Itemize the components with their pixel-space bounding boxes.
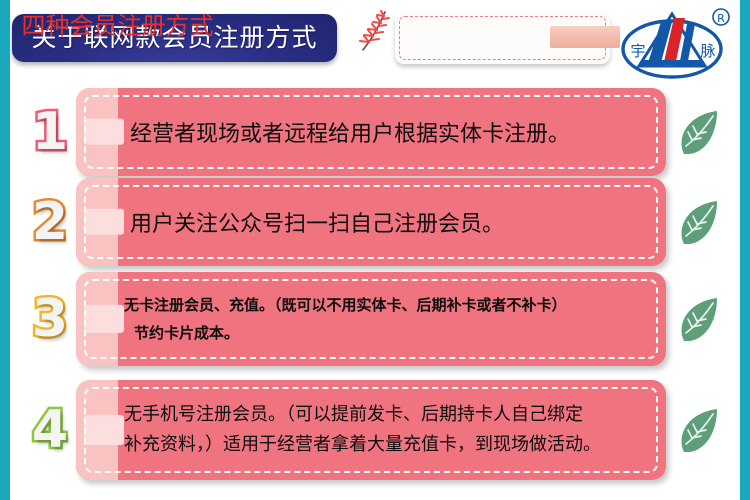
card-tab <box>76 178 118 266</box>
step-card-2: 用户关注公众号扫一扫自己注册会员。 <box>76 178 666 266</box>
step-badge-2: 2 <box>22 190 78 254</box>
step-badge-3: 3 <box>22 287 78 351</box>
step-card-1: 经营者现场或者远程给用户根据实体卡注册。 <box>76 88 666 176</box>
header-tag-label: 四种会员注册方式 <box>10 0 225 52</box>
step-number: 4 <box>22 398 78 462</box>
step-card-4: 无手机号注册会员。（可以提前发卡、后期持卡人自己绑定 补充资料，）适用于经营者拿… <box>76 380 666 480</box>
card-tab <box>76 88 118 176</box>
step-text-line: 无手机号注册会员。（可以提前发卡、后期持卡人自己绑定 <box>124 400 650 430</box>
step-text-line: 无卡注册会员、充值。（既可以不用实体卡、后期补卡或者不补卡） <box>124 291 650 319</box>
logo-left-char: 宇 <box>630 42 645 60</box>
list-item: 2 用户关注公众号扫一扫自己注册会员。 <box>10 178 740 266</box>
step-text-line: 节约卡片成本。 <box>124 319 650 347</box>
header: 关于联网款会员注册方式 <box>10 0 740 84</box>
step-card-3: 无卡注册会员、充值。（既可以不用实体卡、后期补卡或者不补卡） 节约卡片成本。 <box>76 272 666 366</box>
list-item: 4 无手机号注册会员。（可以提前发卡、后期持卡人自己绑定 补充资料，）适用于经营… <box>10 380 740 480</box>
step-text-4: 无手机号注册会员。（可以提前发卡、后期持卡人自己绑定 补充资料，）适用于经营者拿… <box>124 380 650 480</box>
poster-root: 关于联网款会员注册方式 <box>0 0 750 500</box>
logo-right-char: 脉 <box>700 42 715 60</box>
brush-stroke-icon <box>550 26 620 48</box>
list-item: 1 经营者现场或者远程给用户根据实体卡注册。 <box>10 88 740 176</box>
twig-branch-icon <box>357 6 397 54</box>
card-tab <box>76 380 118 480</box>
step-number: 3 <box>22 287 78 351</box>
leaf-icon <box>675 404 721 456</box>
step-text-line: 用户关注公众号扫一扫自己注册会员。 <box>130 206 650 238</box>
step-number: 2 <box>22 190 78 254</box>
list-item: 3 无卡注册会员、充值。（既可以不用实体卡、后期补卡或者不补卡） 节约卡片成本。 <box>10 272 740 366</box>
step-text-1: 经营者现场或者远程给用户根据实体卡注册。 <box>130 88 650 176</box>
poster-canvas: 关于联网款会员注册方式 <box>10 0 740 500</box>
trademark-symbol: R <box>717 12 725 25</box>
step-badge-4: 4 <box>22 398 78 462</box>
step-badge-1: 1 <box>22 100 78 164</box>
step-text-line: 经营者现场或者远程给用户根据实体卡注册。 <box>130 116 650 148</box>
leaf-icon <box>675 293 721 345</box>
leaf-icon <box>675 106 721 158</box>
yumai-logo-icon: 宇 脉 R <box>617 4 735 82</box>
step-text-line: 补充资料，）适用于经营者拿着大量充值卡，到现场做活动。 <box>124 430 650 460</box>
step-text-3: 无卡注册会员、充值。（既可以不用实体卡、后期补卡或者不补卡） 节约卡片成本。 <box>124 272 650 366</box>
card-tab <box>76 272 118 366</box>
step-number: 1 <box>22 100 78 164</box>
leaf-icon <box>675 196 721 248</box>
step-text-2: 用户关注公众号扫一扫自己注册会员。 <box>130 178 650 266</box>
